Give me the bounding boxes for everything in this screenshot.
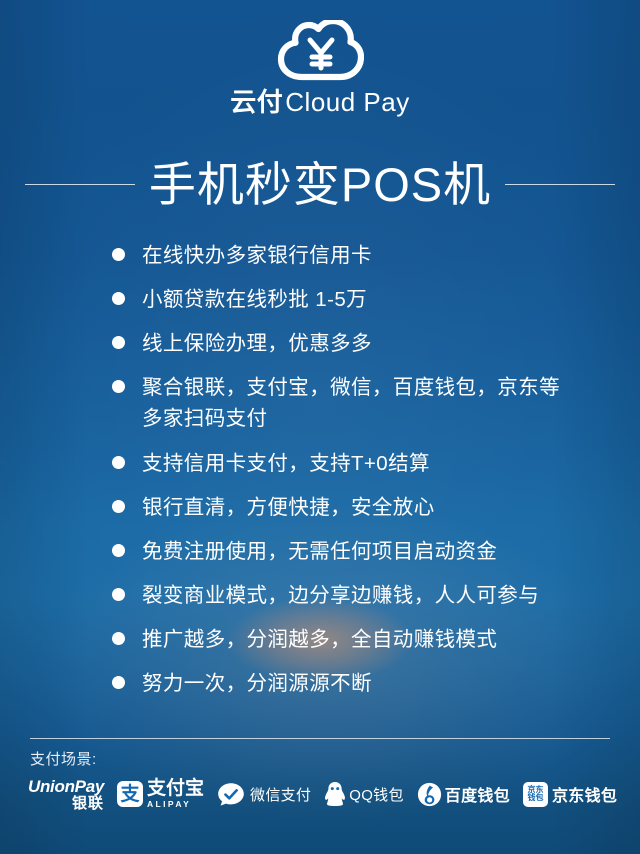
wechat-pay-label: 微信支付	[250, 784, 311, 805]
list-item: 线上保险办理，优惠多多	[112, 329, 610, 358]
promo-poster: 云付Cloud Pay 手机秒变POS机 在线快办多家银行信用卡 小额贷款在线秒…	[0, 0, 640, 854]
jd-wallet-icon: 京东 钱包	[523, 782, 548, 807]
baidu-wallet-logo: 百度钱包	[417, 782, 510, 807]
bullet-dot	[112, 544, 125, 557]
jd-wallet-logo: 京东 钱包 京东钱包	[523, 782, 617, 807]
payment-scene-label: 支付场景:	[30, 748, 97, 769]
bullet-dot	[112, 500, 125, 513]
brand-name: 云付Cloud Pay	[0, 88, 640, 117]
payment-logo-strip: UnionPay 银联 支 支付宝 ALIPAY 微信支付	[28, 772, 626, 816]
footer-divider	[30, 738, 610, 739]
list-item: 银行直清，方便快捷，安全放心	[112, 493, 610, 522]
jd-wallet-label: 京东钱包	[552, 782, 617, 806]
bullet-dot	[112, 676, 125, 689]
brand-name-en: Cloud Pay	[285, 87, 409, 117]
alipay-logo: 支 支付宝 ALIPAY	[117, 779, 204, 809]
unionpay-logo: UnionPay 银联	[28, 778, 104, 811]
list-item-label: 免费注册使用，无需任何项目启动资金	[142, 537, 497, 566]
list-item: 聚合银联，支付宝，微信，百度钱包，京东等	[112, 373, 610, 402]
list-item: 努力一次，分润源源不断	[112, 669, 610, 698]
list-item: 推广越多，分润越多，全自动赚钱模式	[112, 625, 610, 654]
baidu-paw-icon	[417, 782, 442, 807]
feature-list: 在线快办多家银行信用卡 小额贷款在线秒批 1-5万 线上保险办理，优惠多多 聚合…	[112, 241, 610, 713]
list-item-label: 线上保险办理，优惠多多	[142, 329, 372, 358]
jd-badge-bottom: 钱包	[527, 794, 543, 802]
wechat-pay-logo: 微信支付	[217, 782, 311, 806]
alipay-logo-cn: 支付宝	[147, 779, 204, 798]
bullet-dot	[112, 292, 125, 305]
brand-header: 云付Cloud Pay	[0, 20, 640, 117]
list-item: 支持信用卡支付，支持T+0结算	[112, 449, 610, 478]
list-item: 在线快办多家银行信用卡	[112, 241, 610, 270]
bullet-dot	[112, 336, 125, 349]
qq-penguin-icon	[324, 781, 346, 807]
list-item-label: 努力一次，分润源源不断	[142, 669, 372, 698]
list-item: 免费注册使用，无需任何项目启动资金	[112, 537, 610, 566]
wechat-icon	[217, 782, 245, 806]
unionpay-logo-cn: 银联	[72, 796, 104, 811]
list-item-label: 聚合银联，支付宝，微信，百度钱包，京东等	[142, 373, 560, 402]
list-item-label: 银行直清，方便快捷，安全放心	[142, 493, 435, 522]
list-item: 小额贷款在线秒批 1-5万	[112, 285, 610, 314]
list-item-label: 推广越多，分润越多，全自动赚钱模式	[142, 625, 497, 654]
baidu-wallet-label: 百度钱包	[445, 782, 510, 806]
page-title: 手机秒变POS机	[149, 161, 491, 208]
unionpay-logo-en: UnionPay	[28, 778, 104, 795]
bullet-dot	[112, 380, 125, 393]
qq-wallet-label: QQ钱包	[349, 784, 404, 805]
bullet-dot	[112, 588, 125, 601]
bullet-dot	[112, 248, 125, 261]
list-item-continuation: 多家扫码支付	[112, 404, 610, 433]
cloud-yuan-icon	[276, 20, 364, 82]
list-item-label: 小额贷款在线秒批 1-5万	[142, 285, 367, 314]
list-item: 裂变商业模式，边分享边赚钱，人人可参与	[112, 581, 610, 610]
list-item-label: 裂变商业模式，边分享边赚钱，人人可参与	[142, 581, 539, 610]
headline-rule-right	[505, 184, 615, 185]
list-item-label: 支持信用卡支付，支持T+0结算	[142, 449, 430, 478]
headline-row: 手机秒变POS机	[0, 152, 640, 216]
alipay-logo-en: ALIPAY	[147, 800, 204, 809]
list-item-label: 在线快办多家银行信用卡	[142, 241, 372, 270]
alipay-icon: 支	[117, 781, 143, 807]
qq-wallet-logo: QQ钱包	[324, 781, 404, 807]
brand-name-cn: 云付	[230, 87, 283, 117]
list-item-label: 多家扫码支付	[142, 404, 267, 433]
bullet-dot	[112, 632, 125, 645]
headline-rule-left	[25, 184, 135, 185]
bullet-dot	[112, 456, 125, 469]
